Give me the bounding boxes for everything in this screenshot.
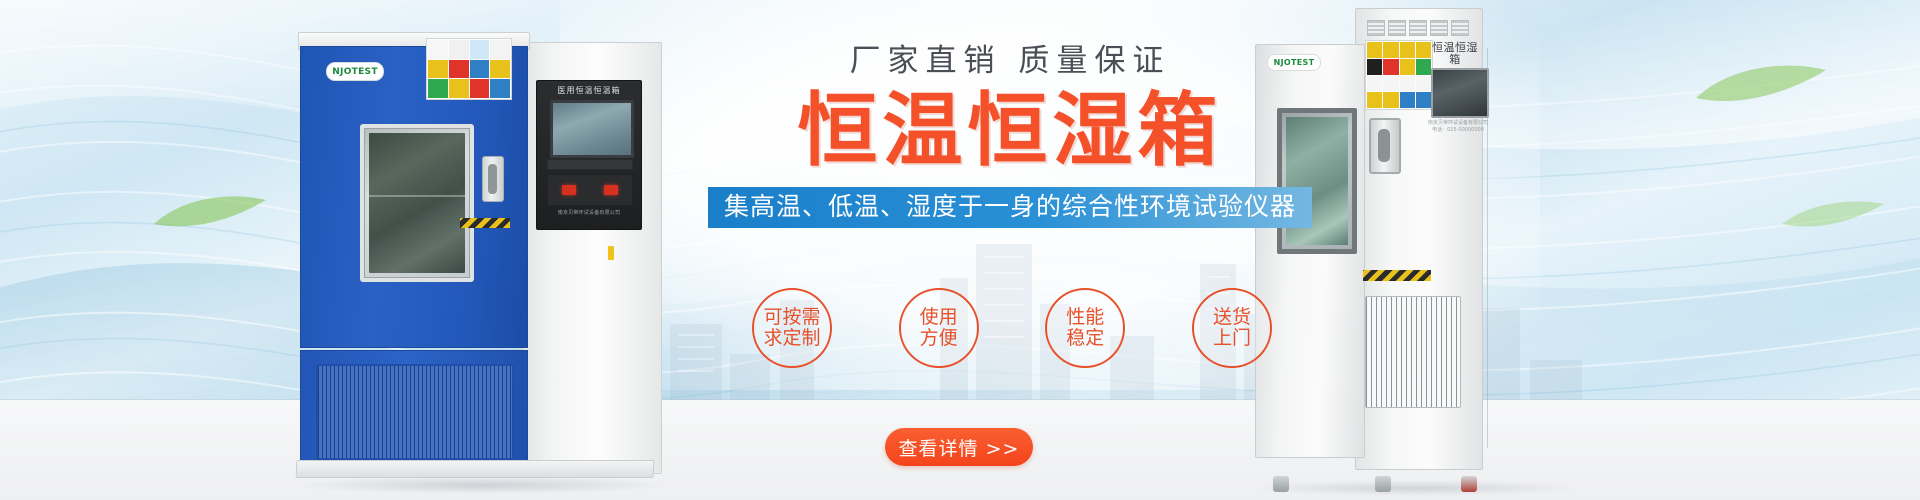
badge-line-2: 求定制 [763,328,820,349]
subtitle-bar: 集高温、低温、湿度于一身的综合性环境试验仪器 [708,187,1312,228]
right-unit-foot-center [1375,476,1391,492]
right-unit-panel-fineprint: 南京贝帝环试设备有限公司 电话：025-00000000 [1427,120,1489,134]
left-unit-touchscreen[interactable] [550,100,634,158]
feature-badge-custom[interactable]: 可按需 求定制 [752,288,832,368]
product-left-chamber: NJOTEST 医用恒温恒温箱 南京贝帝环试设备有限公司 [300,28,660,480]
right-unit-top-vents [1367,20,1469,34]
right-unit-door-handle [1369,118,1401,174]
left-unit-indicator-lights [547,174,633,206]
left-unit-door-handle [482,156,504,202]
badge-line-1: 性能 [1066,307,1104,328]
left-unit-panel-strip [547,159,633,170]
feature-badge-stable[interactable]: 性能 稳定 [1045,288,1125,368]
left-unit-panel-fineprint: 南京贝帝环试设备有限公司 [537,209,641,216]
left-unit-warning-stickers [426,38,512,100]
feature-badge-easy-use[interactable]: 使用 方便 [899,288,979,368]
right-unit-warning-stickers [1365,40,1433,110]
right-unit-hazard-stripe [1363,270,1431,281]
left-unit-view-window [360,124,474,282]
view-details-button[interactable]: 查看详情 >> [885,428,1033,466]
badge-line-2: 上门 [1213,328,1251,349]
right-unit-vent-grille [1365,296,1461,408]
left-unit-hazard-stripe [460,218,510,228]
right-unit-touchscreen[interactable] [1431,68,1489,118]
leaf-accent-right-2 [1778,196,1888,236]
leaf-accent-left [150,190,270,236]
right-unit-foot-left [1273,476,1289,492]
right-unit-foot-right [1461,476,1477,492]
leaf-accent-right [1690,58,1830,112]
headline-copy-block: 厂家直销 质量保证 恒温恒湿箱 集高温、低温、湿度于一身的综合性环境试验仪器 [700,46,1320,228]
badge-line-1: 可按需 [763,307,820,328]
right-unit-door-seam [1487,48,1488,448]
right-unit-panel-title: 恒温恒湿箱 [1431,42,1479,66]
left-unit-panel-title: 医用恒温恒温箱 [537,85,641,96]
left-unit-vent-grille [316,364,514,460]
promo-banner: NJOTEST 医用恒温恒温箱 南京贝帝环试设备有限公司 NJOTEST [0,0,1920,500]
badge-line-2: 方便 [920,328,958,349]
tagline: 厂家直销 质量保证 [700,46,1320,77]
feature-badge-delivery[interactable]: 送货 上门 [1192,288,1272,368]
left-unit-yellow-tab [608,246,614,260]
left-unit-base-plinth [296,460,655,478]
left-unit-control-panel[interactable]: 医用恒温恒温箱 南京贝帝环试设备有限公司 [536,80,642,230]
page-title: 恒温恒湿箱 [700,91,1320,171]
left-unit-brand-logo: NJOTEST [326,62,384,81]
badge-line-2: 稳定 [1066,328,1104,349]
left-unit-brand-text: NJOTEST [332,67,378,77]
badge-line-1: 使用 [920,307,958,328]
feature-badge-group: 可按需 求定制 使用 方便 性能 稳定 送货 上门 [752,288,1272,368]
badge-line-1: 送货 [1213,307,1251,328]
